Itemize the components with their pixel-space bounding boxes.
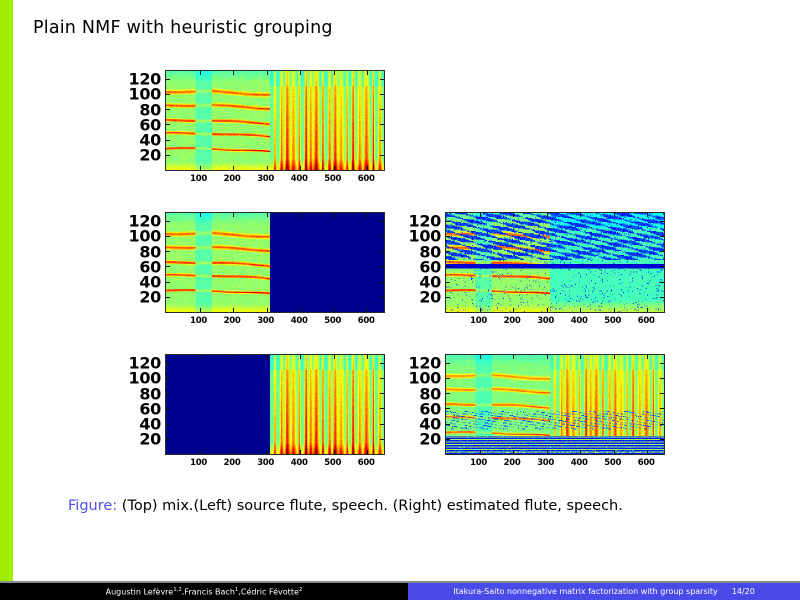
estimated-speech-spectrogram-ytick [446,408,450,409]
source-flute-spectrogram-xtick [334,213,335,217]
source-flute-spectrogram-ytick [166,282,170,283]
estimated-speech-spectrogram-xtick [480,355,481,359]
source-flute-spectrogram-ytick [380,221,384,222]
estimated-flute-spectrogram-xtick [647,308,648,312]
estimated-speech-spectrogram-xtick [647,355,648,359]
footer-authors: Augustin Lefèvre1,2, Francis Bach1, Cédr… [0,583,408,600]
source-flute-spectrogram-ytick [166,221,170,222]
estimated-flute-spectrogram-xtick [547,213,548,217]
footer-author-1-name: Augustin Lefèvre [106,587,174,596]
source-speech-spectrogram-ytick [166,393,170,394]
estimated-speech-spectrogram-ytick [660,363,664,364]
source-speech-spectrogram-xtick-label: 600 [358,458,375,468]
mixture-spectrogram-xtick [233,166,234,170]
estimated-speech-spectrogram-xtick-label: 300 [537,458,554,468]
estimated-flute-spectrogram-ytick [446,282,450,283]
mixture-spectrogram-ytick [166,79,170,80]
source-flute-spectrogram-ytick [166,266,170,267]
mixture-spectrogram-ytick-label: 120 [129,70,162,89]
source-speech-spectrogram-ytick [380,378,384,379]
source-speech-spectrogram-ytick-label: 120 [129,354,162,373]
estimated-speech-spectrogram-ytick [660,393,664,394]
source-speech-spectrogram-ytick [166,363,170,364]
source-flute-spectrogram-xtick [367,213,368,217]
source-speech-spectrogram-xtick [267,355,268,359]
mixture-spectrogram-ytick [166,140,170,141]
estimated-speech-spectrogram-ytick [446,378,450,379]
mixture-spectrogram-xtick [200,166,201,170]
source-speech-spectrogram-xtick [334,355,335,359]
plot-estimated-speech-spectrogram: 20406080100120100200300400500600 [445,354,663,453]
slide-root: Plain NMF with heuristic grouping 204060… [0,0,800,600]
mixture-spectrogram-xtick-label: 300 [257,174,274,184]
estimated-flute-spectrogram-xtick [647,213,648,217]
source-flute-spectrogram-ytick [380,251,384,252]
mixture-spectrogram-xtick [200,71,201,75]
estimated-flute-spectrogram-xtick [480,213,481,217]
source-flute-spectrogram-axes [165,212,385,313]
mixture-spectrogram-ytick [166,155,170,156]
estimated-speech-spectrogram-xtick [480,450,481,454]
footer-author-3-affiliation: 2 [299,587,302,593]
estimated-flute-spectrogram-xtick-label: 500 [604,316,621,326]
source-flute-spectrogram-xtick-label: 400 [291,316,308,326]
estimated-speech-spectrogram-xtick [614,355,615,359]
estimated-flute-spectrogram-xtick [513,308,514,312]
source-flute-spectrogram-xtick [267,308,268,312]
estimated-flute-spectrogram-ytick [660,221,664,222]
estimated-speech-spectrogram-xtick [513,450,514,454]
source-flute-spectrogram-ytick [380,297,384,298]
estimated-flute-spectrogram-xtick-label: 300 [537,316,554,326]
source-flute-spectrogram-xtick [300,213,301,217]
estimated-flute-spectrogram-xtick [580,308,581,312]
estimated-flute-spectrogram-ytick [446,297,450,298]
source-flute-spectrogram-ytick [166,297,170,298]
source-speech-spectrogram-xtick-label: 300 [257,458,274,468]
estimated-flute-spectrogram-xtick-label: 200 [504,316,521,326]
estimated-flute-spectrogram-xtick [547,308,548,312]
source-speech-spectrogram-ytick [380,439,384,440]
source-speech-spectrogram-xtick [300,450,301,454]
estimated-flute-spectrogram-ytick [660,297,664,298]
source-flute-spectrogram-xtick [267,213,268,217]
source-flute-spectrogram-xtick-label: 600 [358,316,375,326]
source-speech-spectrogram-xtick [367,355,368,359]
source-speech-spectrogram-xtick [367,450,368,454]
source-speech-spectrogram-xtick-label: 100 [190,458,207,468]
estimated-speech-spectrogram-xtick-label: 200 [504,458,521,468]
source-flute-spectrogram-ytick-label: 120 [129,212,162,231]
source-speech-spectrogram-ytick [380,363,384,364]
estimated-flute-spectrogram-xtick [614,308,615,312]
estimated-speech-spectrogram-ytick [446,424,450,425]
mixture-spectrogram-ytick [166,94,170,95]
estimated-flute-spectrogram-ytick [660,251,664,252]
mixture-spectrogram-xtick-label: 200 [224,174,241,184]
estimated-flute-spectrogram-ytick [446,251,450,252]
mixture-spectrogram-xtick-label: 100 [190,174,207,184]
plot-source-speech-spectrogram: 20406080100120100200300400500600 [165,354,383,453]
plot-source-flute-spectrogram: 20406080100120100200300400500600 [165,212,383,311]
footer-author-1-affiliation: 1,2 [173,587,182,593]
footer-page-number: 14/20 [732,587,755,596]
mixture-spectrogram-xtick [367,166,368,170]
mixture-spectrogram-xtick [300,71,301,75]
estimated-flute-spectrogram-xtick [614,213,615,217]
footer-author-3-name: Cédric Févotte [241,587,299,596]
source-flute-spectrogram-xtick-label: 300 [257,316,274,326]
mixture-spectrogram-ytick [380,140,384,141]
estimated-flute-spectrogram-axes [445,212,665,313]
source-speech-spectrogram-ytick [166,378,170,379]
source-flute-spectrogram-xtick-label: 100 [190,316,207,326]
estimated-speech-spectrogram-ytick [446,363,450,364]
estimated-speech-spectrogram-xtick [580,355,581,359]
source-speech-spectrogram-xtick-label: 200 [224,458,241,468]
source-speech-spectrogram-xtick-label: 500 [324,458,341,468]
source-speech-spectrogram-xtick [300,355,301,359]
page-title: Plain NMF with heuristic grouping [33,18,333,38]
estimated-flute-spectrogram-ytick [446,236,450,237]
source-speech-spectrogram-xtick-label: 400 [291,458,308,468]
source-speech-spectrogram-xtick [233,355,234,359]
source-flute-spectrogram-xtick [334,308,335,312]
estimated-speech-spectrogram-ytick [660,408,664,409]
source-flute-spectrogram-ytick [380,282,384,283]
estimated-speech-spectrogram-ytick [660,439,664,440]
estimated-flute-spectrogram-xtick [513,213,514,217]
estimated-flute-spectrogram-ytick [446,266,450,267]
estimated-speech-spectrogram-xtick [580,450,581,454]
mixture-spectrogram-ytick [380,109,384,110]
figure-caption: Figure: (Top) mix.(Left) source flute, s… [68,498,768,514]
estimated-speech-spectrogram-xtick-label: 400 [571,458,588,468]
source-flute-spectrogram-xtick [300,308,301,312]
estimated-flute-spectrogram-ytick [446,221,450,222]
mixture-spectrogram-xtick [267,71,268,75]
source-speech-spectrogram-xtick [233,450,234,454]
estimated-speech-spectrogram-ytick-label: 120 [409,354,442,373]
estimated-speech-spectrogram-xtick [614,450,615,454]
source-speech-spectrogram-xtick [334,450,335,454]
source-flute-spectrogram-xtick [233,308,234,312]
mixture-spectrogram-ytick [380,79,384,80]
source-flute-spectrogram-ytick [166,251,170,252]
source-flute-spectrogram-ytick [380,266,384,267]
estimated-flute-spectrogram-ytick-label: 120 [409,212,442,231]
estimated-speech-spectrogram-xtick [547,450,548,454]
estimated-speech-spectrogram-xtick-label: 600 [638,458,655,468]
source-flute-spectrogram-xtick [200,213,201,217]
source-flute-spectrogram-xtick [233,213,234,217]
mixture-spectrogram-ytick [380,155,384,156]
footer-author-2-name: Francis Bach [184,587,234,596]
source-speech-spectrogram-xtick [200,450,201,454]
estimated-flute-spectrogram-xtick [580,213,581,217]
mixture-spectrogram-ytick [166,109,170,110]
mixture-spectrogram-xtick-label: 400 [291,174,308,184]
mixture-spectrogram-xtick [334,71,335,75]
estimated-speech-spectrogram-xtick [647,450,648,454]
mixture-spectrogram-axes [165,70,385,171]
mixture-spectrogram-ytick [166,124,170,125]
source-speech-spectrogram-ytick [166,408,170,409]
estimated-speech-spectrogram-ytick [446,393,450,394]
footer-author-3: Cédric Févotte2 [241,587,302,597]
source-speech-spectrogram-axes [165,354,385,455]
estimated-speech-spectrogram-xtick-label: 500 [604,458,621,468]
estimated-speech-spectrogram-xtick [547,355,548,359]
source-flute-spectrogram-ytick [380,236,384,237]
estimated-flute-spectrogram-xtick-label: 100 [470,316,487,326]
footer-title-block: Itakura-Saito nonnegative matrix factori… [408,583,800,600]
plot-estimated-flute-spectrogram: 20406080100120100200300400500600 [445,212,663,311]
estimated-flute-spectrogram-xtick-label: 400 [571,316,588,326]
source-flute-spectrogram-xtick-label: 200 [224,316,241,326]
source-speech-spectrogram-ytick [166,439,170,440]
mixture-spectrogram-ytick [380,94,384,95]
mixture-spectrogram-xtick [300,166,301,170]
source-speech-spectrogram-ytick [380,424,384,425]
mixture-spectrogram-xtick [267,166,268,170]
source-flute-spectrogram-xtick [367,308,368,312]
figure-panel-grid: 2040608010012010020030040050060020406080… [0,60,800,480]
footer-author-2: Francis Bach1 [184,587,238,597]
mixture-spectrogram-xtick [367,71,368,75]
estimated-flute-spectrogram-xtick [480,308,481,312]
estimated-speech-spectrogram-ytick [660,424,664,425]
estimated-flute-spectrogram-xtick-label: 600 [638,316,655,326]
estimated-speech-spectrogram-ytick [446,439,450,440]
source-speech-spectrogram-ytick [166,424,170,425]
estimated-flute-spectrogram-ytick [660,282,664,283]
estimated-flute-spectrogram-ytick [660,236,664,237]
estimated-speech-spectrogram-xtick [513,355,514,359]
source-speech-spectrogram-ytick [380,393,384,394]
source-speech-spectrogram-xtick [267,450,268,454]
source-speech-spectrogram-ytick [380,408,384,409]
footer-author-1: Augustin Lefèvre1,2 [106,587,182,597]
slide-footer: Augustin Lefèvre1,2, Francis Bach1, Cédr… [0,583,800,600]
mixture-spectrogram-xtick-label: 500 [324,174,341,184]
plot-mixture-spectrogram: 20406080100120100200300400500600 [165,70,383,169]
source-flute-spectrogram-xtick-label: 500 [324,316,341,326]
mixture-spectrogram-xtick [233,71,234,75]
estimated-speech-spectrogram-axes [445,354,665,455]
caption-text: (Top) mix.(Left) source flute, speech. (… [122,498,623,514]
mixture-spectrogram-xtick [334,166,335,170]
footer-talk-title: Itakura-Saito nonnegative matrix factori… [453,587,718,596]
mixture-spectrogram-ytick [380,124,384,125]
estimated-speech-spectrogram-xtick-label: 100 [470,458,487,468]
caption-label: Figure: [68,498,117,514]
estimated-flute-spectrogram-ytick [660,266,664,267]
source-speech-spectrogram-xtick [200,355,201,359]
source-flute-spectrogram-ytick [166,236,170,237]
estimated-speech-spectrogram-ytick [660,378,664,379]
source-flute-spectrogram-xtick [200,308,201,312]
mixture-spectrogram-xtick-label: 600 [358,174,375,184]
